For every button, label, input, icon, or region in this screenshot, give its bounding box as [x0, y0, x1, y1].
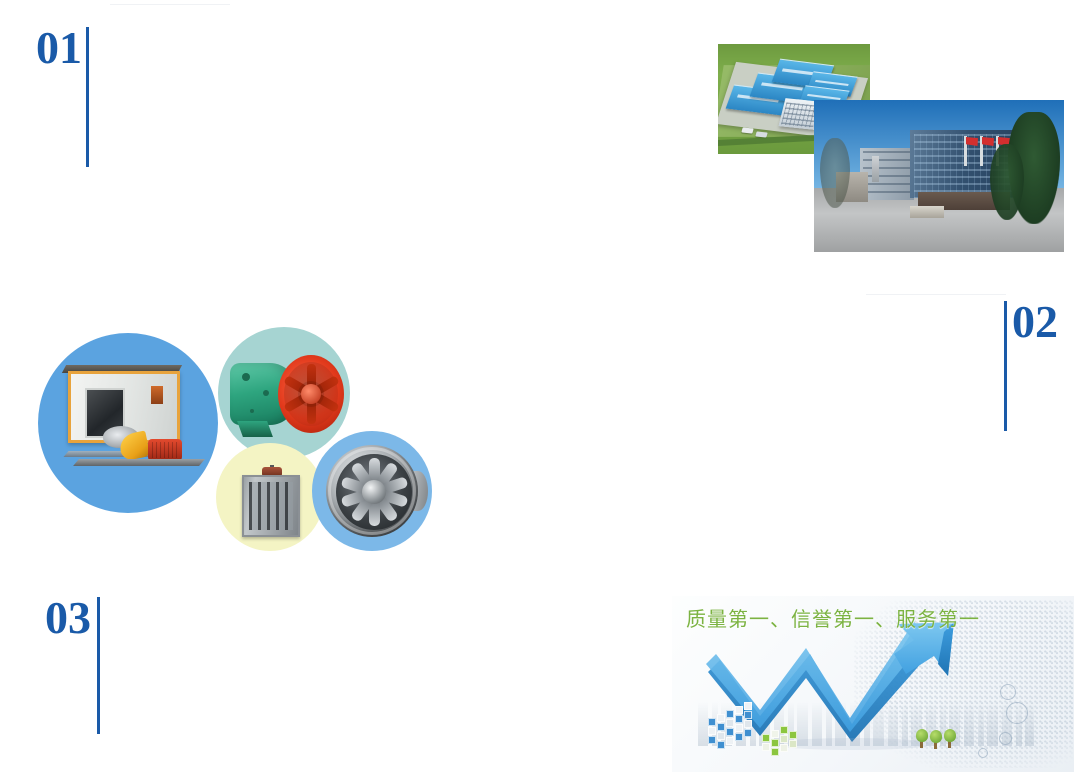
- chinese-flag: [964, 136, 967, 166]
- pine-tree: [990, 144, 1024, 220]
- growth-slogan-banner: 质量第一、信誉第一、服务第一: [672, 596, 1074, 772]
- slide-canvas: 01 02: [0, 0, 1074, 772]
- fan-inlet-ring: [278, 355, 344, 433]
- blue-cube-cluster: [708, 692, 768, 750]
- hairline-middle-right: [866, 294, 1006, 295]
- hairline-top: [110, 4, 230, 5]
- air-damper-valve: [236, 465, 308, 543]
- tree-icon: [944, 728, 956, 748]
- impeller-shell: [326, 445, 418, 537]
- axial-flow-fan: [228, 347, 348, 447]
- section-number-02: 02: [1012, 300, 1058, 344]
- control-panel: [151, 386, 163, 404]
- tree-icon: [930, 729, 942, 749]
- banner-slogan-text: 质量第一、信誉第一、服务第一: [686, 606, 980, 632]
- damper-frame: [242, 475, 300, 537]
- chimney: [872, 156, 879, 182]
- site-truck: [741, 127, 753, 133]
- section-rule-03: [97, 597, 100, 734]
- section-rule-02: [1004, 301, 1007, 431]
- section-marker-02: 02: [1004, 300, 1058, 431]
- bubble-decoration: [1000, 684, 1016, 700]
- stacked-materials: [910, 206, 944, 218]
- section-rule-01: [86, 27, 89, 167]
- product-collage: [30, 325, 430, 550]
- chinese-flag: [980, 136, 983, 166]
- section-number-01: 01: [36, 26, 82, 70]
- side-building: [860, 148, 914, 200]
- bubble-decoration: [1006, 702, 1028, 724]
- tree-icon: [916, 728, 928, 748]
- base-rail: [73, 459, 205, 466]
- impeller-hub: [362, 480, 386, 504]
- bubble-decoration: [978, 748, 988, 758]
- impeller-bore: [336, 454, 412, 530]
- bubble-decoration: [999, 732, 1012, 745]
- fan-impeller: [322, 441, 426, 541]
- inspection-window: [85, 388, 125, 438]
- electric-motor: [148, 439, 182, 461]
- cabinet-housing: [68, 371, 180, 443]
- mounting-foot: [237, 421, 273, 437]
- section-marker-01: 01: [36, 26, 89, 167]
- fan-hub: [301, 384, 321, 404]
- office-building-photo: [814, 100, 1064, 252]
- bare-tree: [820, 138, 850, 208]
- section-marker-03: 03: [45, 596, 100, 734]
- section-number-03: 03: [45, 596, 91, 640]
- cabinet-centrifugal-fan: [58, 365, 208, 483]
- green-cube-cluster: [762, 722, 798, 756]
